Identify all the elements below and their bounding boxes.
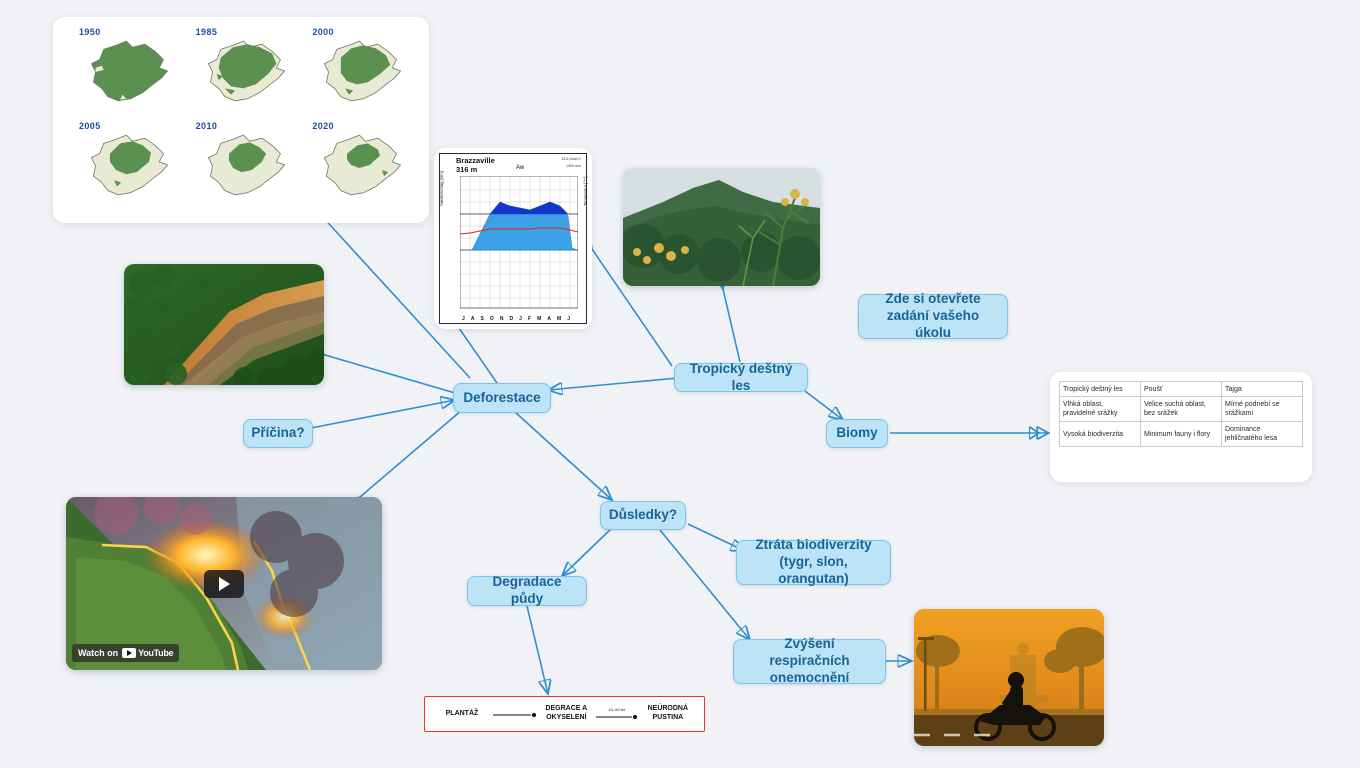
month-tick: N xyxy=(500,316,504,322)
borneo-shape-icon xyxy=(300,37,415,109)
youtube-brand-label: YouTube xyxy=(138,648,173,658)
climate-station-label: Brazzaville xyxy=(456,156,495,165)
node-zvyseni-respiracnich-onemocneni[interactable]: Zvýšení respiračních onemocnění xyxy=(733,639,886,684)
borneo-map-2000: 2000 xyxy=(300,27,415,119)
node-pricina[interactable]: Příčina? xyxy=(243,419,313,448)
node-dusledky[interactable]: Důsledky? xyxy=(600,501,686,530)
borneo-map-1950: 1950 xyxy=(67,27,182,119)
table-cell: Dominance jehličnatého lesa xyxy=(1222,422,1303,447)
month-tick: O xyxy=(490,316,494,322)
borneo-shape-icon xyxy=(67,131,182,203)
table-row: Vlhká oblast, pravidelné srážky Velice s… xyxy=(1060,397,1303,422)
arrow-right-icon xyxy=(594,712,640,722)
month-tick: J xyxy=(519,316,522,322)
smog-photo-graphic xyxy=(914,609,1104,746)
borneo-deforestation-card[interactable]: 1950 1985 2000 xyxy=(53,17,429,223)
climate-ylabel-right: Temperatur [°C] xyxy=(583,177,588,206)
month-tick: S xyxy=(481,316,484,322)
climate-temp-annual-label: 24.6 Grad C xyxy=(561,157,581,161)
borneo-map-2005: 2005 xyxy=(67,121,182,213)
table-header-cell: Poušť xyxy=(1141,382,1222,397)
biome-table: Tropický deštný les Poušť Tajga Vlhká ob… xyxy=(1059,381,1303,447)
photo-rainforest[interactable] xyxy=(623,168,820,286)
borneo-map-2020: 2020 xyxy=(300,121,415,213)
borneo-map-1985: 1985 xyxy=(184,27,299,119)
table-cell: Vysoká biodiverzita xyxy=(1060,422,1141,447)
mindmap-canvas: 1950 1985 2000 xyxy=(0,0,1360,768)
climate-plot xyxy=(460,176,578,314)
climate-month-axis: J A S O N D J F M A M J xyxy=(462,316,570,322)
table-header-row: Tropický deštný les Poušť Tajga xyxy=(1060,382,1303,397)
borneo-year-label: 1950 xyxy=(79,27,182,37)
month-tick: F xyxy=(528,316,531,322)
table-cell: Vlhká oblast, pravidelné srážky xyxy=(1060,397,1141,422)
month-tick: D xyxy=(510,316,514,322)
flow-arrow-2-group: 10–90 let xyxy=(594,707,640,722)
borneo-shape-icon xyxy=(300,131,415,203)
photo-deforestation[interactable] xyxy=(124,264,324,385)
flow-step-1: PLANTÁŽ xyxy=(433,710,491,719)
climate-precip-annual-label: 1404 mm xyxy=(566,164,581,168)
climate-elevation-label: 316 m xyxy=(456,165,477,174)
borneo-shape-icon xyxy=(184,37,299,109)
play-icon xyxy=(219,577,230,591)
photo-smog[interactable] xyxy=(914,609,1104,746)
flow-step-3: NEÚRODNÁ PUSTINA xyxy=(640,705,696,723)
month-tick: J xyxy=(567,316,570,322)
node-degradace-pudy[interactable]: Degradace půdy xyxy=(467,576,587,606)
deforestation-photo-graphic xyxy=(124,264,324,385)
biome-comparison-table-card[interactable]: Tropický deštný les Poušť Tajga Vlhká ob… xyxy=(1050,372,1312,482)
borneo-year-label: 2000 xyxy=(312,27,415,37)
table-row: Vysoká biodiverzita Minimum fauny i flor… xyxy=(1060,422,1303,447)
watch-label: Watch on xyxy=(78,648,118,658)
node-tropicky-destny-les[interactable]: Tropický deštný les xyxy=(674,363,808,392)
month-tick: M xyxy=(557,316,561,322)
table-cell: Minimum fauny i flory xyxy=(1141,422,1222,447)
table-cell: Velice suchá oblast, bez srážek xyxy=(1141,397,1222,422)
borneo-year-label: 2005 xyxy=(79,121,182,131)
table-cell: Mírné podnebí se srážkami xyxy=(1222,397,1303,422)
node-biomy[interactable]: Biomy xyxy=(826,419,888,448)
node-zadani-ukolu[interactable]: Zde si otevřete zadání vašeho úkolu xyxy=(858,294,1008,339)
month-tick: M xyxy=(537,316,541,322)
climate-ylabel-left: Niederschlag [mm] xyxy=(439,171,444,206)
rainforest-photo-graphic xyxy=(623,168,820,286)
youtube-logo-icon: YouTube xyxy=(122,648,173,658)
month-tick: J xyxy=(462,316,465,322)
table-header-cell: Tropický deštný les xyxy=(1060,382,1141,397)
watch-on-youtube-button[interactable]: Watch on YouTube xyxy=(72,644,179,662)
flow-step-2: DEGRACE A OKYSELENÍ xyxy=(539,705,594,723)
node-ztrata-biodiverzity[interactable]: Ztráta biodiverzity (tygr, slon, orangut… xyxy=(736,540,891,585)
month-tick: A xyxy=(471,316,475,322)
borneo-shape-icon xyxy=(184,131,299,203)
borneo-shape-icon xyxy=(67,37,182,109)
youtube-video-embed[interactable]: Watch on YouTube xyxy=(66,497,382,670)
borneo-map-2010: 2010 xyxy=(184,121,299,213)
table-header-cell: Tajga xyxy=(1222,382,1303,397)
node-deforestace[interactable]: Deforestace xyxy=(453,383,551,413)
climate-code-label: Aw xyxy=(516,165,524,171)
borneo-year-label: 2010 xyxy=(196,121,299,131)
play-button[interactable] xyxy=(204,570,244,598)
borneo-year-label: 2020 xyxy=(312,121,415,131)
climate-diagram-card[interactable]: Brazzaville 316 m Aw 24.6 Grad C 1404 mm… xyxy=(434,148,592,329)
soil-degradation-flow-diagram[interactable]: PLANTÁŽ DEGRACE A OKYSELENÍ 10–90 let NE… xyxy=(424,696,705,732)
arrow-right-icon xyxy=(491,708,539,720)
borneo-year-label: 1985 xyxy=(196,27,299,37)
month-tick: A xyxy=(547,316,551,322)
